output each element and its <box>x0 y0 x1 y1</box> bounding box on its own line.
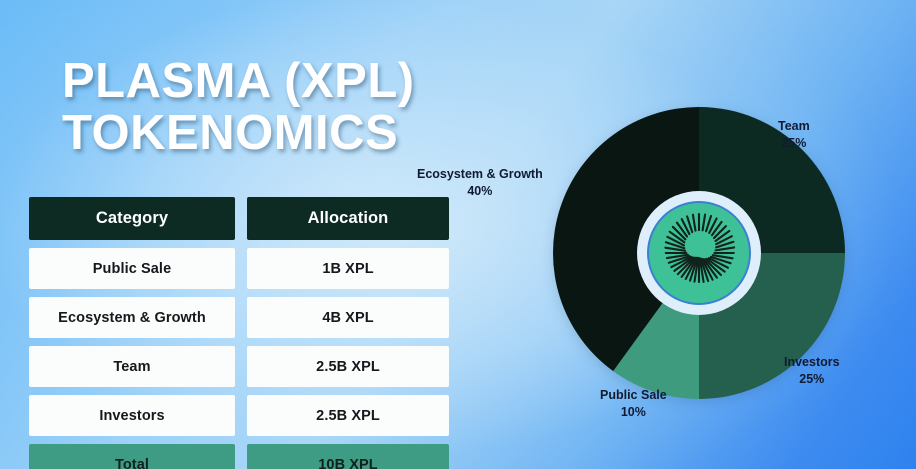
cell-allocation: 2.5B XPL <box>247 395 449 436</box>
chart-label-public-sale: Public Sale 10% <box>600 387 667 420</box>
title-line-1: PLASMA (XPL) <box>62 54 415 108</box>
cell-category: Team <box>29 346 235 387</box>
header-allocation: Allocation <box>247 197 449 240</box>
title-line-2: TOKENOMICS <box>62 107 482 159</box>
chart-label-team: Team 25% <box>778 118 810 151</box>
page-title: PLASMA (XPL) TOKENOMICS <box>62 55 482 160</box>
label-name: Ecosystem & Growth <box>417 167 543 181</box>
cell-category: Ecosystem & Growth <box>29 297 235 338</box>
label-pct: 10% <box>600 404 667 421</box>
cell-category: Public Sale <box>29 248 235 289</box>
table-header-row: Category Allocation <box>29 197 449 240</box>
cell-allocation: 2.5B XPL <box>247 346 449 387</box>
label-pct: 25% <box>778 135 810 152</box>
label-name: Investors <box>784 355 840 369</box>
label-pct: 40% <box>417 183 543 200</box>
cell-total-allocation: 10B XPL <box>247 444 449 469</box>
label-pct: 25% <box>784 371 840 388</box>
cell-category: Investors <box>29 395 235 436</box>
chart-label-ecosystem: Ecosystem & Growth 40% <box>417 166 543 199</box>
cell-allocation: 4B XPL <box>247 297 449 338</box>
table-row: Investors 2.5B XPL <box>29 395 449 436</box>
chart-label-investors: Investors 25% <box>784 354 840 387</box>
label-name: Public Sale <box>600 388 667 402</box>
table-row: Public Sale 1B XPL <box>29 248 449 289</box>
cell-total-label: Total <box>29 444 235 469</box>
label-name: Team <box>778 119 810 133</box>
table-row: Team 2.5B XPL <box>29 346 449 387</box>
table-row: Ecosystem & Growth 4B XPL <box>29 297 449 338</box>
table-total-row: Total 10B XPL <box>29 444 449 469</box>
cell-allocation: 1B XPL <box>247 248 449 289</box>
header-category: Category <box>29 197 235 240</box>
plasma-logo-icon <box>637 191 761 315</box>
tokenomics-table: Category Allocation Public Sale 1B XPL E… <box>29 197 449 469</box>
